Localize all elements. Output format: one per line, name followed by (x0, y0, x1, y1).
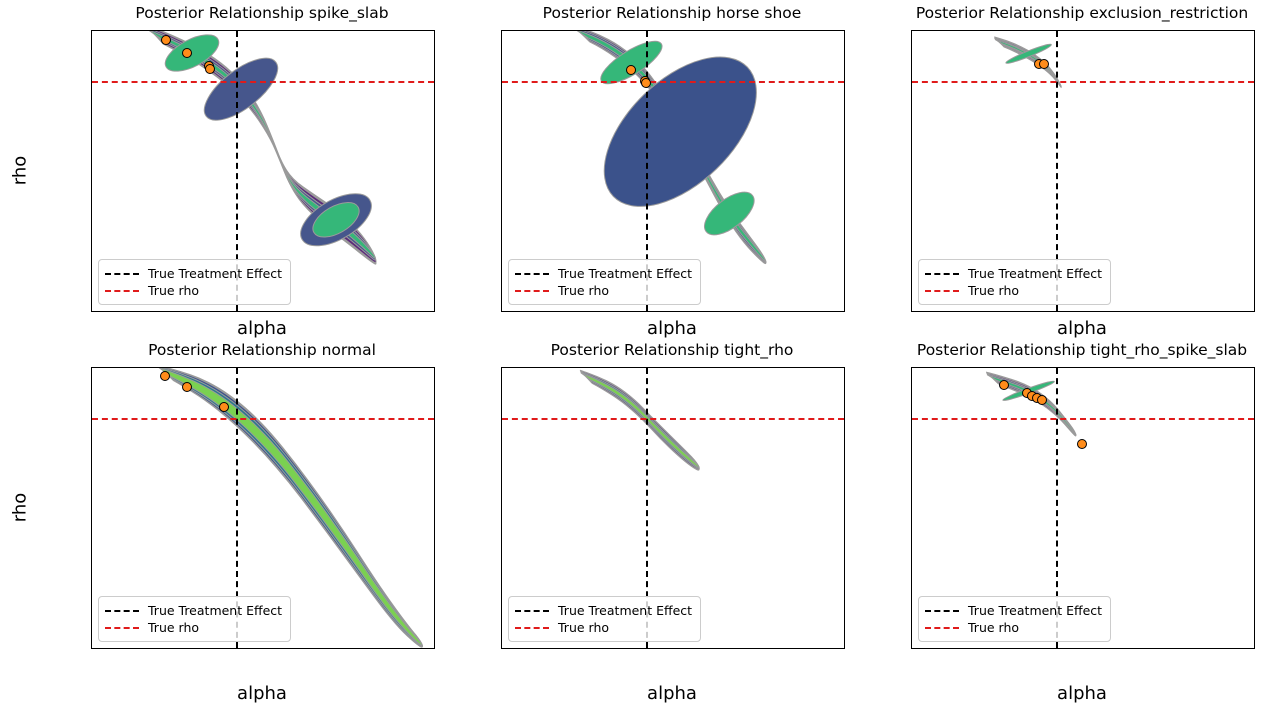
legend-key-true-rho (105, 627, 139, 629)
legend: True Treatment EffectTrue rho (98, 259, 291, 305)
legend-key-true-rho (515, 290, 549, 292)
posterior-draw-marker (219, 402, 229, 412)
x-axis-label: alpha (91, 318, 433, 339)
y-tick (91, 513, 92, 514)
y-tick (91, 254, 92, 255)
posterior-draw-marker (999, 380, 1009, 390)
panel-2: Posterior Relationship exclusion_restric… (820, 0, 1253, 385)
x-tick (334, 648, 335, 649)
panel-5: Posterior Relationship tight_rho_spike_s… (820, 337, 1253, 710)
posterior-draw-marker (1039, 59, 1049, 69)
panel-1: Posterior Relationship horse shoeTrue Tr… (410, 0, 843, 385)
x-axis-label: alpha (91, 683, 433, 704)
plot-area: True Treatment EffectTrue rho (501, 30, 845, 312)
true-rho-line (502, 418, 844, 420)
legend-key-true-rho (925, 627, 959, 629)
x-tick (1056, 648, 1057, 649)
plot-area: 2345True Treatment EffectTrue rho (911, 367, 1255, 649)
legend-entry: True rho (515, 282, 692, 299)
legend: True Treatment EffectTrue rho (98, 596, 291, 642)
contour-mode-green-1 (697, 184, 761, 243)
posterior-draw-marker (641, 78, 651, 88)
legend-label: True rho (148, 618, 199, 637)
y-tick (911, 97, 912, 98)
x-tick (646, 311, 647, 312)
plot-area: 23450.50.0−0.5True Treatment EffectTrue … (91, 367, 435, 649)
y-tick (91, 591, 92, 592)
plot-area: True Treatment EffectTrue rho (911, 30, 1255, 312)
legend-entry: True rho (515, 619, 692, 636)
x-tick (334, 311, 335, 312)
legend-entry: True rho (925, 619, 1102, 636)
panel-title: Posterior Relationship horse shoe (501, 6, 843, 22)
y-tick (911, 513, 912, 514)
legend: True Treatment EffectTrue rho (918, 596, 1111, 642)
posterior-draw-marker (1037, 395, 1047, 405)
y-tick (501, 591, 502, 592)
legend-key-true-treatment-effect (925, 610, 959, 612)
legend-key-true-treatment-effect (105, 610, 139, 612)
legend: True Treatment EffectTrue rho (918, 259, 1111, 305)
x-axis-label: alpha (911, 683, 1253, 704)
x-tick (548, 648, 549, 649)
posterior-draw-marker (182, 382, 192, 392)
legend-label: True rho (558, 618, 609, 637)
legend-key-true-rho (925, 290, 959, 292)
x-tick (1252, 648, 1253, 649)
x-tick (1252, 311, 1253, 312)
posterior-draw-marker (161, 35, 171, 45)
panel-title: Posterior Relationship tight_rho (501, 343, 843, 359)
legend-key-true-rho (515, 627, 549, 629)
x-tick (548, 311, 549, 312)
x-tick (744, 648, 745, 649)
legend-entry: True rho (105, 619, 282, 636)
x-tick (1154, 648, 1155, 649)
legend-entry: True Treatment Effect (515, 265, 692, 282)
posterior-draw-marker (1077, 439, 1087, 449)
x-tick (138, 648, 139, 649)
y-tick (501, 513, 502, 514)
y-tick (91, 97, 92, 98)
x-axis-label: alpha (501, 318, 843, 339)
legend: True Treatment EffectTrue rho (508, 259, 701, 305)
true-rho-line (502, 81, 844, 83)
panel-title: Posterior Relationship spike_slab (91, 6, 433, 22)
legend-key-true-treatment-effect (515, 610, 549, 612)
x-tick (744, 311, 745, 312)
posterior-draw-marker (626, 65, 636, 75)
legend-label: True rho (148, 281, 199, 300)
panel-title: Posterior Relationship exclusion_restric… (911, 6, 1253, 22)
legend-entry: True rho (105, 282, 282, 299)
panel-title: Posterior Relationship normal (91, 343, 433, 359)
legend-key-true-treatment-effect (515, 273, 549, 275)
y-tick (911, 254, 912, 255)
y-tick (501, 176, 502, 177)
true-rho-line (92, 418, 434, 420)
y-tick (911, 591, 912, 592)
y-tick (91, 434, 92, 435)
legend-key-true-treatment-effect (925, 273, 959, 275)
y-tick (501, 254, 502, 255)
legend-label: True rho (558, 281, 609, 300)
posterior-draw-marker (182, 48, 192, 58)
posterior-draw-marker (205, 64, 215, 74)
legend-label: True rho (968, 281, 1019, 300)
x-tick (958, 648, 959, 649)
x-axis-label: alpha (911, 318, 1253, 339)
legend-key-true-treatment-effect (105, 273, 139, 275)
x-tick (958, 311, 959, 312)
true-rho-line (912, 418, 1254, 420)
y-tick (501, 97, 502, 98)
legend-entry: True Treatment Effect (105, 602, 282, 619)
panel-0: Posterior Relationship spike_slab0.50.0−… (0, 0, 433, 385)
panel-3: Posterior Relationship normal23450.50.0−… (0, 337, 433, 710)
panel-4: Posterior Relationship tight_rho2345True… (410, 337, 843, 710)
x-axis-label: alpha (501, 683, 843, 704)
panel-title: Posterior Relationship tight_rho_spike_s… (911, 343, 1253, 359)
legend: True Treatment EffectTrue rho (508, 596, 701, 642)
x-tick (1056, 311, 1057, 312)
true-rho-line (92, 81, 434, 83)
legend-entry: True Treatment Effect (925, 602, 1102, 619)
y-tick (911, 434, 912, 435)
figure-canvas: Posterior Relationship spike_slab0.50.0−… (0, 0, 1273, 710)
legend-entry: True Treatment Effect (105, 265, 282, 282)
y-axis-label: rho (10, 149, 31, 193)
legend-key-true-rho (105, 290, 139, 292)
x-tick (138, 311, 139, 312)
x-tick (1154, 311, 1155, 312)
x-tick (236, 311, 237, 312)
legend-label: True rho (968, 618, 1019, 637)
true-rho-line (912, 81, 1254, 83)
posterior-draw-marker (160, 371, 170, 381)
y-tick (501, 434, 502, 435)
plot-area: 0.50.0−0.5True Treatment EffectTrue rho (91, 30, 435, 312)
y-axis-label: rho (10, 486, 31, 530)
legend-entry: True rho (925, 282, 1102, 299)
x-tick (236, 648, 237, 649)
legend-entry: True Treatment Effect (925, 265, 1102, 282)
legend-entry: True Treatment Effect (515, 602, 692, 619)
y-tick (911, 176, 912, 177)
x-tick (646, 648, 647, 649)
y-tick (91, 176, 92, 177)
plot-area: 2345True Treatment EffectTrue rho (501, 367, 845, 649)
